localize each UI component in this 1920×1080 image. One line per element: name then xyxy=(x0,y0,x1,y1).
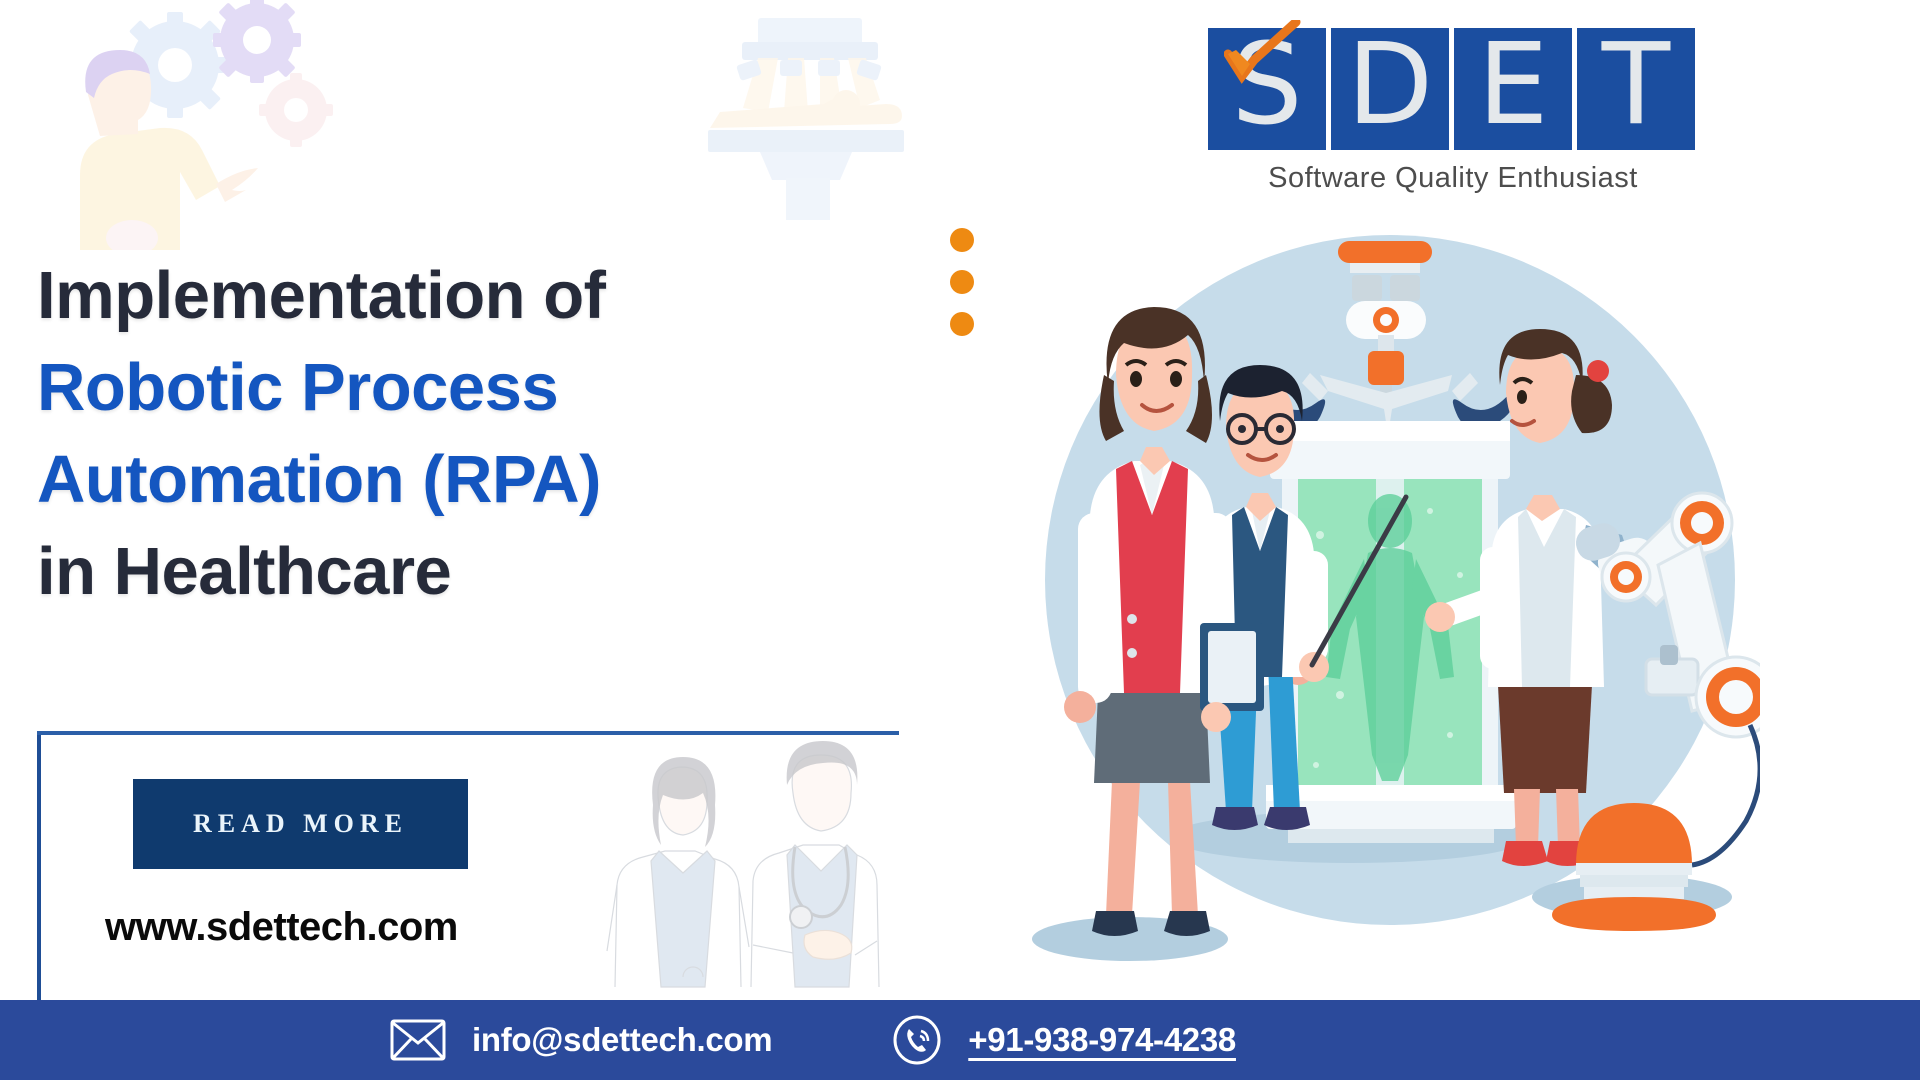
logo-tagline: Software Quality Enthusiast xyxy=(1208,162,1698,195)
logo-tile-e: E xyxy=(1454,28,1572,150)
orange-dots-decoration xyxy=(950,228,974,336)
logo-tile-d: D xyxy=(1331,28,1449,150)
orange-check-icon xyxy=(1224,20,1302,84)
banner-root: Implementation of Robotic Process Automa… xyxy=(0,0,1920,1080)
logo-letter: T xyxy=(1602,29,1670,141)
headline-line-1: Implementation of xyxy=(37,250,907,342)
horizontal-divider xyxy=(37,731,899,735)
two-doctors-illustration xyxy=(555,735,885,1005)
headline-line-3: Automation (RPA) xyxy=(37,434,907,526)
phone-number[interactable]: +91-938-974-4238 xyxy=(968,1021,1236,1059)
headline-line-2: Robotic Process xyxy=(37,342,907,434)
envelope-icon xyxy=(390,1019,446,1061)
phone-contact[interactable]: +91-938-974-4238 xyxy=(892,1015,1236,1065)
logo-letter: D xyxy=(1347,29,1433,141)
operating-room-illustration xyxy=(680,0,940,250)
logo-tile-s: S xyxy=(1208,28,1326,150)
phone-call-icon xyxy=(892,1015,942,1065)
logo-letter-tiles: S D E T xyxy=(1208,28,1698,150)
logo-letter: E xyxy=(1478,29,1549,141)
email-contact[interactable]: info@sdettech.com xyxy=(390,1019,772,1061)
logo-tile-t: T xyxy=(1577,28,1695,150)
contact-footer-bar: info@sdettech.com +91-938-974-4238 xyxy=(0,1000,1920,1080)
orange-dot xyxy=(950,228,974,252)
vertical-divider xyxy=(37,735,41,1000)
orange-dot xyxy=(950,312,974,336)
person-with-gears-illustration xyxy=(20,0,350,250)
email-address[interactable]: info@sdettech.com xyxy=(472,1021,772,1059)
healthcare-robotics-lab-illustration xyxy=(1020,225,1760,985)
read-more-label: READ MORE xyxy=(193,809,408,839)
page-title: Implementation of Robotic Process Automa… xyxy=(37,250,907,618)
read-more-button[interactable]: READ MORE xyxy=(133,779,468,869)
headline-line-4: in Healthcare xyxy=(37,526,907,618)
sdet-logo[interactable]: S D E T Software Quality Enthusiast xyxy=(1208,28,1698,195)
website-url[interactable]: www.sdettech.com xyxy=(105,905,458,950)
orange-dot xyxy=(950,270,974,294)
